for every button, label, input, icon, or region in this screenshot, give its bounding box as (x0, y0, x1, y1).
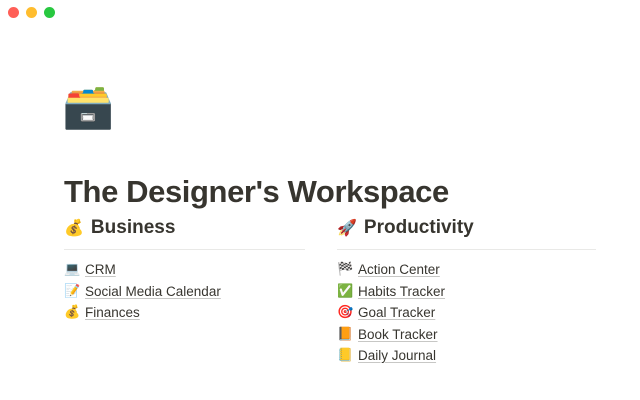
column-productivity: 🚀 Productivity 🏁 Action Center ✅ Habits … (337, 216, 596, 366)
list-item[interactable]: 🎯 Goal Tracker (337, 302, 596, 324)
list-item[interactable]: ✅ Habits Tracker (337, 280, 596, 302)
chequered-flag-icon: 🏁 (337, 263, 352, 276)
link-list-business: 💻 CRM 📝 Social Media Calendar 💰 Finances (64, 259, 305, 324)
rocket-icon: 🚀 (337, 220, 357, 236)
column-container: 💰 Business 💻 CRM 📝 Social Media Calendar… (64, 216, 598, 366)
list-item[interactable]: 🏁 Action Center (337, 259, 596, 281)
link-label[interactable]: Daily Journal (358, 348, 436, 363)
column-heading-label: Productivity (364, 216, 474, 240)
link-list-productivity: 🏁 Action Center ✅ Habits Tracker 🎯 Goal … (337, 259, 596, 367)
money-bag-icon: 💰 (64, 306, 79, 319)
card-file-box-icon[interactable]: 🗃️ (62, 86, 114, 128)
link-label[interactable]: Finances (85, 305, 140, 320)
link-label[interactable]: Goal Tracker (358, 305, 435, 320)
link-label[interactable]: Book Tracker (358, 327, 438, 342)
link-label[interactable]: Social Media Calendar (85, 284, 221, 299)
close-window-button[interactable] (8, 7, 19, 18)
maximize-window-button[interactable] (44, 7, 55, 18)
column-divider (337, 249, 596, 250)
page-title: The Designer's Workspace (64, 173, 449, 210)
column-divider (64, 249, 305, 250)
column-heading-label: Business (91, 216, 175, 240)
list-item[interactable]: 📙 Book Tracker (337, 323, 596, 345)
window-controls (8, 7, 55, 18)
list-item[interactable]: 📒 Daily Journal (337, 345, 596, 367)
page-content: 🗃️ The Designer's Workspace 💰 Business 💻… (0, 28, 640, 400)
check-mark-button-icon: ✅ (337, 285, 352, 298)
orange-book-icon: 📙 (337, 328, 352, 341)
list-item[interactable]: 💰 Finances (64, 302, 305, 324)
column-business: 💰 Business 💻 CRM 📝 Social Media Calendar… (64, 216, 305, 366)
direct-hit-icon: 🎯 (337, 306, 352, 319)
list-item[interactable]: 💻 CRM (64, 259, 305, 281)
memo-icon: 📝 (64, 285, 79, 298)
laptop-icon: 💻 (64, 263, 79, 276)
link-label[interactable]: Action Center (358, 262, 440, 277)
money-bag-icon: 💰 (64, 220, 84, 236)
column-heading-productivity: 🚀 Productivity (337, 216, 596, 240)
minimize-window-button[interactable] (26, 7, 37, 18)
window-title-bar (0, 0, 640, 28)
list-item[interactable]: 📝 Social Media Calendar (64, 280, 305, 302)
link-label[interactable]: Habits Tracker (358, 284, 445, 299)
link-label[interactable]: CRM (85, 262, 116, 277)
column-heading-business: 💰 Business (64, 216, 305, 240)
ledger-icon: 📒 (337, 349, 352, 362)
